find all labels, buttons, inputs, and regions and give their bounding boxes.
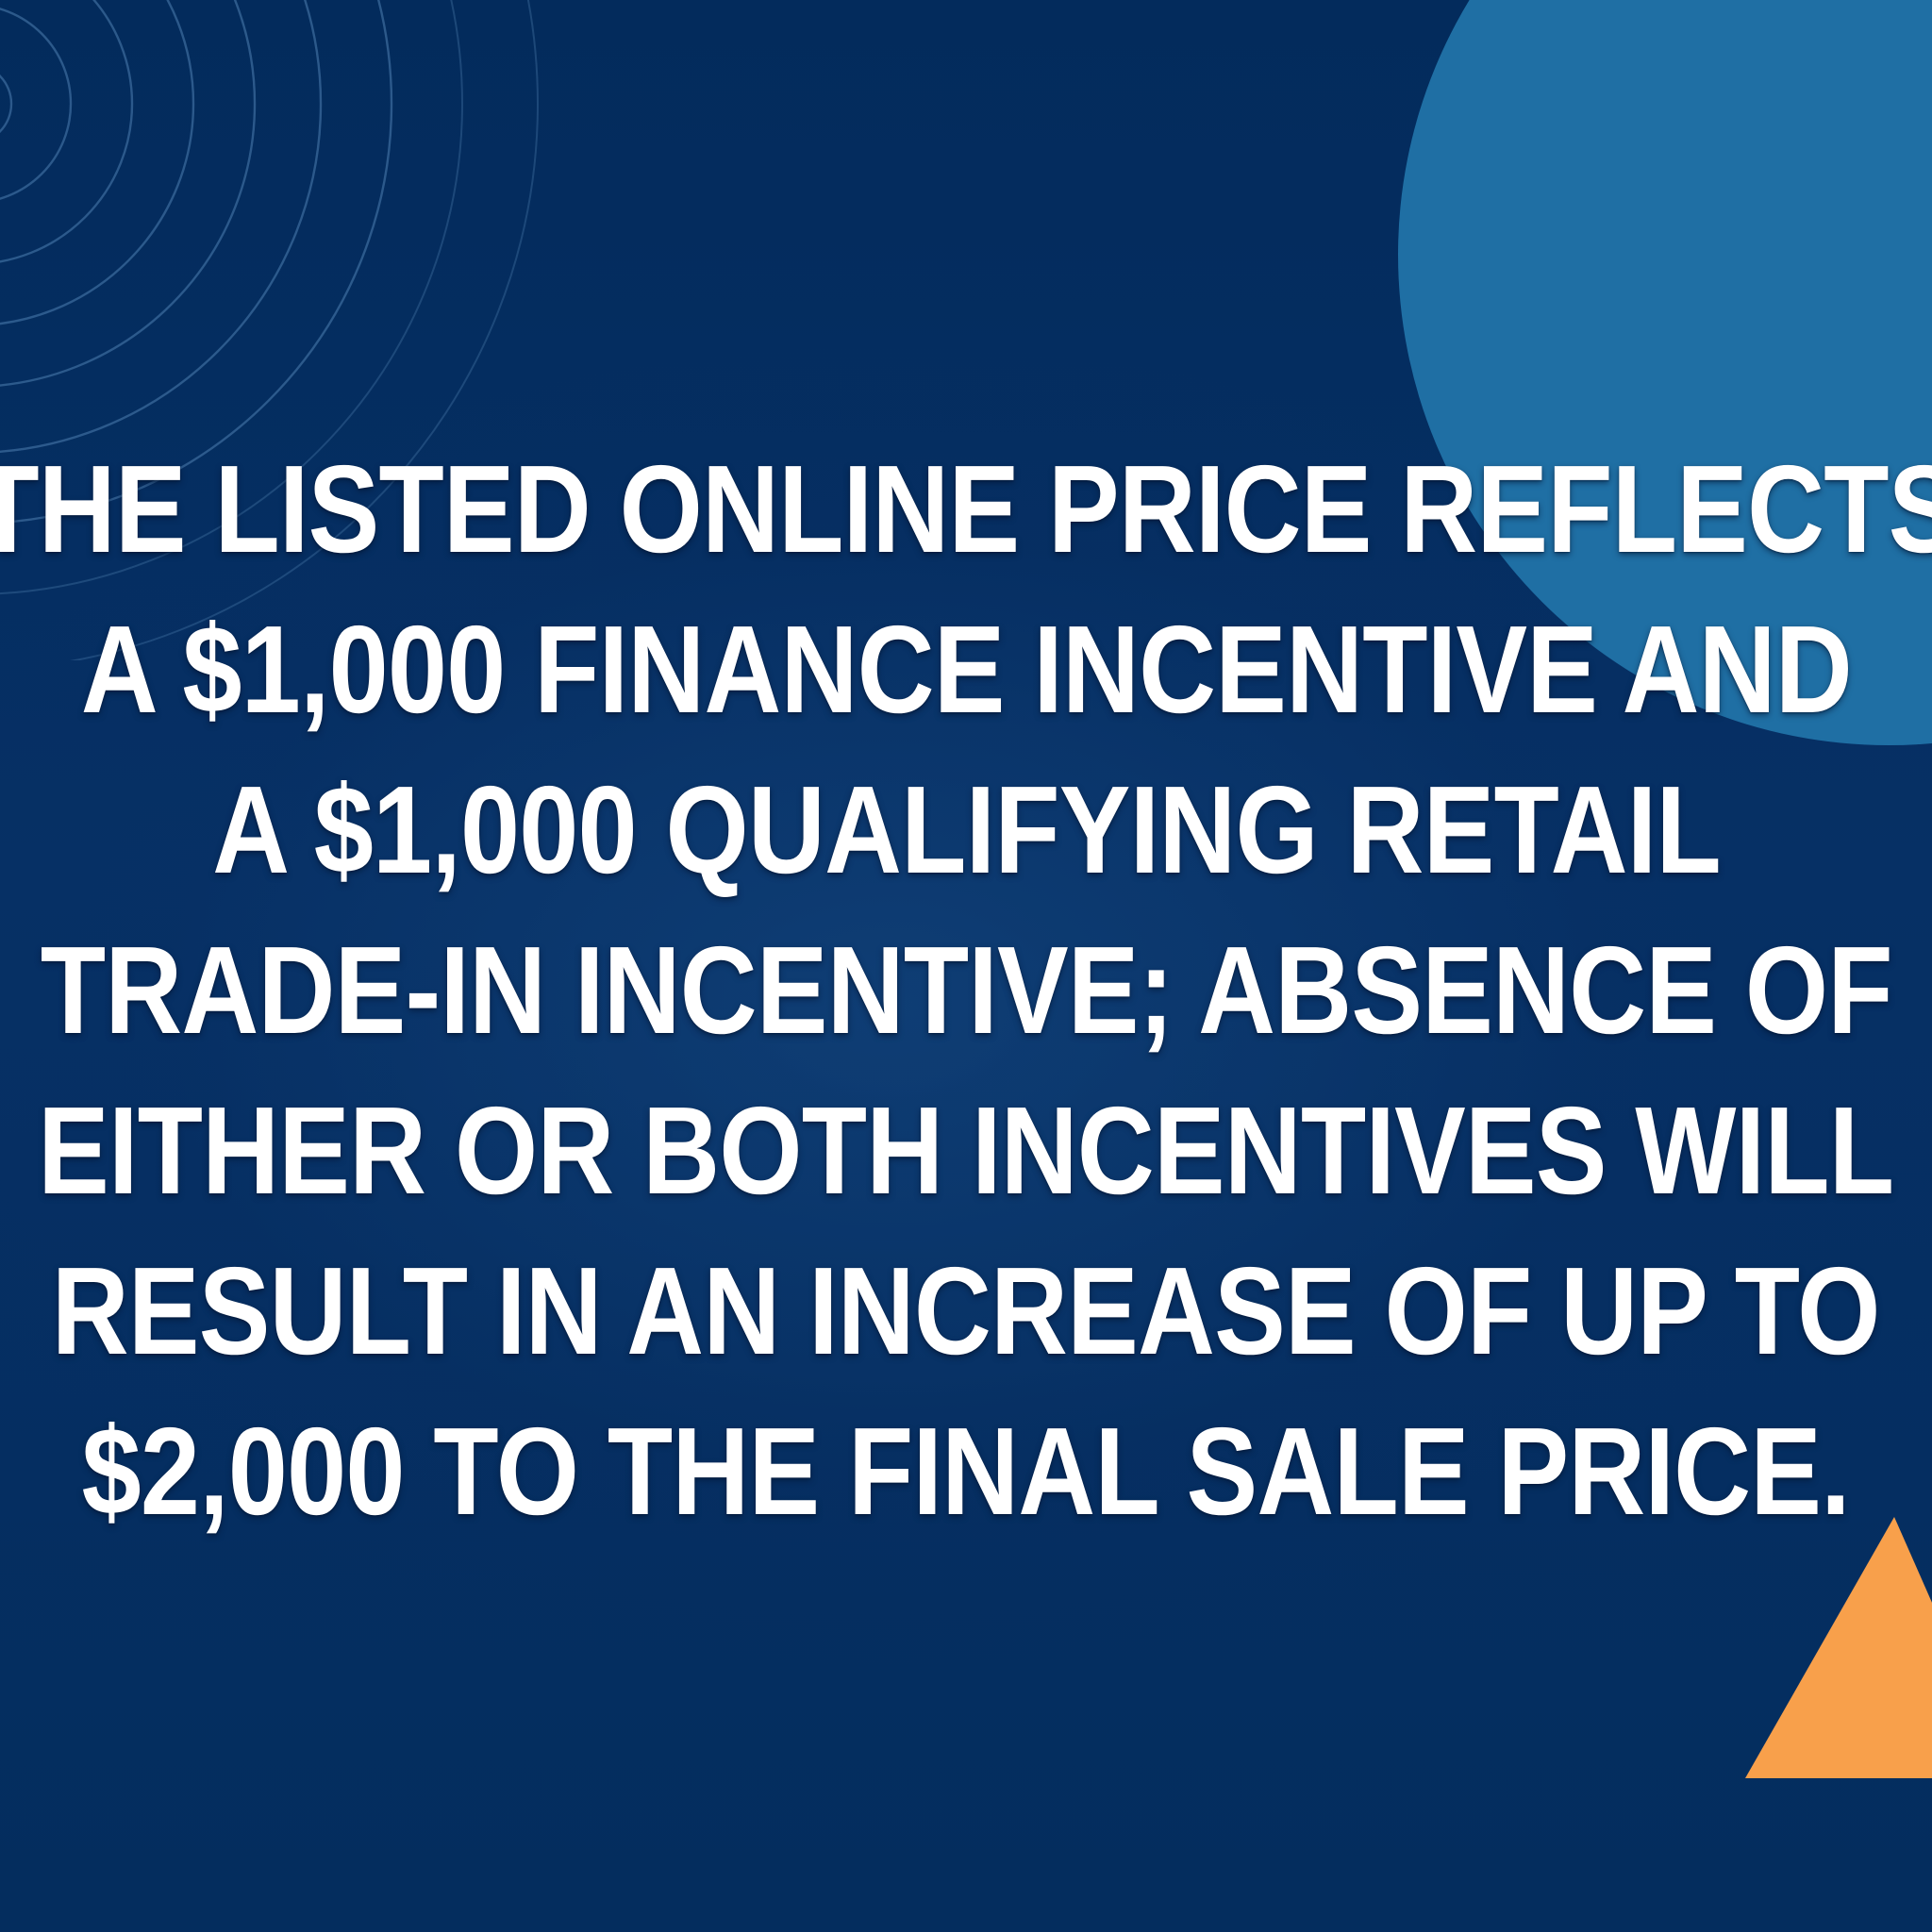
disclaimer-line: RESULT IN AN INCREASE OF UP TO <box>52 1231 1880 1391</box>
disclaimer-line: A $1,000 QUALIFYING RETAIL <box>212 750 1721 910</box>
disclaimer-line: EITHER OR BOTH INCENTIVES WILL <box>38 1071 1893 1231</box>
slide-canvas: THE LISTED ONLINE PRICE REFLECTS A $1,00… <box>0 0 1932 1932</box>
disclaimer-line: THE LISTED ONLINE PRICE REFLECTS <box>0 429 1932 590</box>
disclaimer-line: $2,000 TO THE FINAL SALE PRICE. <box>82 1391 1850 1552</box>
disclaimer-line: A $1,000 FINANCE INCENTIVE AND <box>80 590 1851 750</box>
disclaimer-line: TRADE-IN INCENTIVE; ABSENCE OF <box>41 910 1892 1071</box>
disclaimer-text-block: THE LISTED ONLINE PRICE REFLECTS A $1,00… <box>0 0 1932 1932</box>
